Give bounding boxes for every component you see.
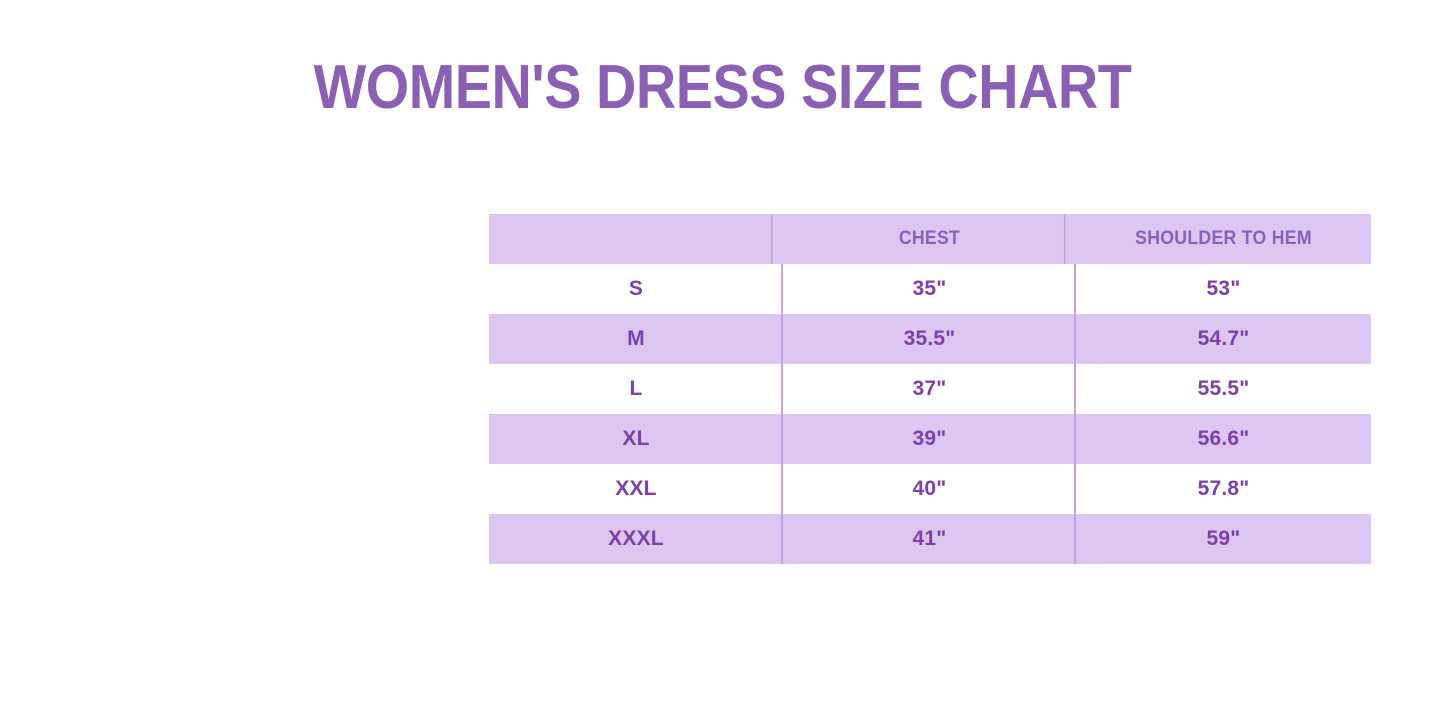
cell-shoulder-to-hem: 55.5" — [1076, 364, 1371, 414]
table-row: XL 39" 56.6" — [489, 414, 1371, 464]
table-row: XXXL 41" 59" — [489, 514, 1371, 564]
table-row: M 35.5" 54.7" — [489, 314, 1371, 364]
cell-shoulder-to-hem: 57.8" — [1076, 464, 1371, 514]
cell-chest: 40" — [783, 464, 1076, 514]
page-title: WOMEN'S DRESS SIZE CHART — [72, 52, 1373, 124]
table-row: XXL 40" 57.8" — [489, 464, 1371, 514]
column-header-size — [499, 214, 772, 264]
cell-size: XL — [489, 414, 783, 464]
table-row: L 37" 55.5" — [489, 364, 1371, 414]
cell-chest: 37" — [783, 364, 1076, 414]
column-header-shoulder-to-hem: SHOULDER TO HEM — [1086, 214, 1360, 264]
cell-size: M — [489, 314, 783, 364]
cell-chest: 35.5" — [783, 314, 1076, 364]
size-chart-page: WOMEN'S DRESS SIZE CHART CHEST SHOULDER … — [0, 0, 1445, 723]
table-header-row: CHEST SHOULDER TO HEM — [489, 214, 1371, 264]
table-row: S 35" 53" — [489, 264, 1371, 314]
column-header-chest: CHEST — [793, 214, 1065, 264]
cell-shoulder-to-hem: 56.6" — [1076, 414, 1371, 464]
table-body: S 35" 53" M 35.5" 54.7" L 37" 55.5" XL 3… — [489, 264, 1371, 564]
cell-chest: 39" — [783, 414, 1076, 464]
cell-chest: 41" — [783, 514, 1076, 564]
cell-chest: 35" — [783, 264, 1076, 314]
cell-shoulder-to-hem: 59" — [1076, 514, 1371, 564]
cell-size: XXXL — [489, 514, 783, 564]
cell-size: XXL — [489, 464, 783, 514]
table-header: CHEST SHOULDER TO HEM — [489, 214, 1371, 264]
cell-size: L — [489, 364, 783, 414]
size-chart-table: CHEST SHOULDER TO HEM S 35" 53" M 35.5" … — [489, 214, 1371, 564]
cell-size: S — [489, 264, 783, 314]
cell-shoulder-to-hem: 54.7" — [1076, 314, 1371, 364]
cell-shoulder-to-hem: 53" — [1076, 264, 1371, 314]
